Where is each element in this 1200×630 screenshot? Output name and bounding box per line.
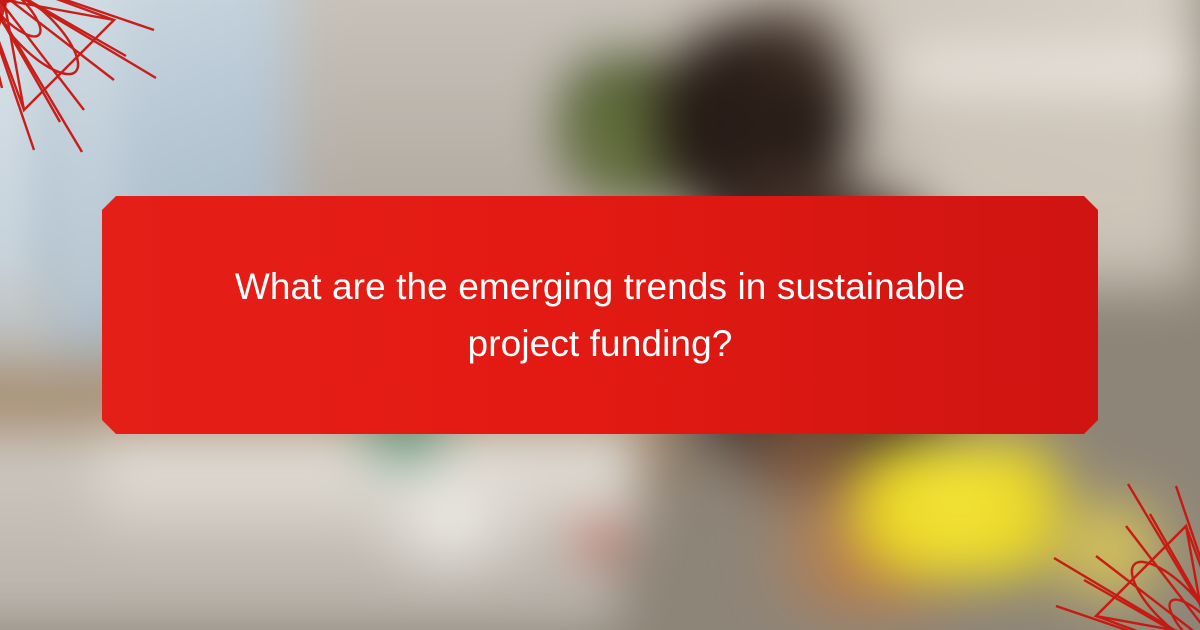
bg-window-frame-2	[80, 0, 100, 310]
bg-shelf	[900, 50, 1200, 90]
question-text: What are the emerging trends in sustaina…	[210, 258, 990, 373]
question-banner: What are the emerging trends in sustaina…	[102, 196, 1098, 434]
bg-person-hair-highlight	[720, 0, 870, 100]
bg-yellow-object-2	[1020, 490, 1200, 610]
bg-paper	[350, 480, 550, 570]
bg-red-object	[560, 520, 640, 560]
social-card: What are the emerging trends in sustaina…	[0, 0, 1200, 630]
